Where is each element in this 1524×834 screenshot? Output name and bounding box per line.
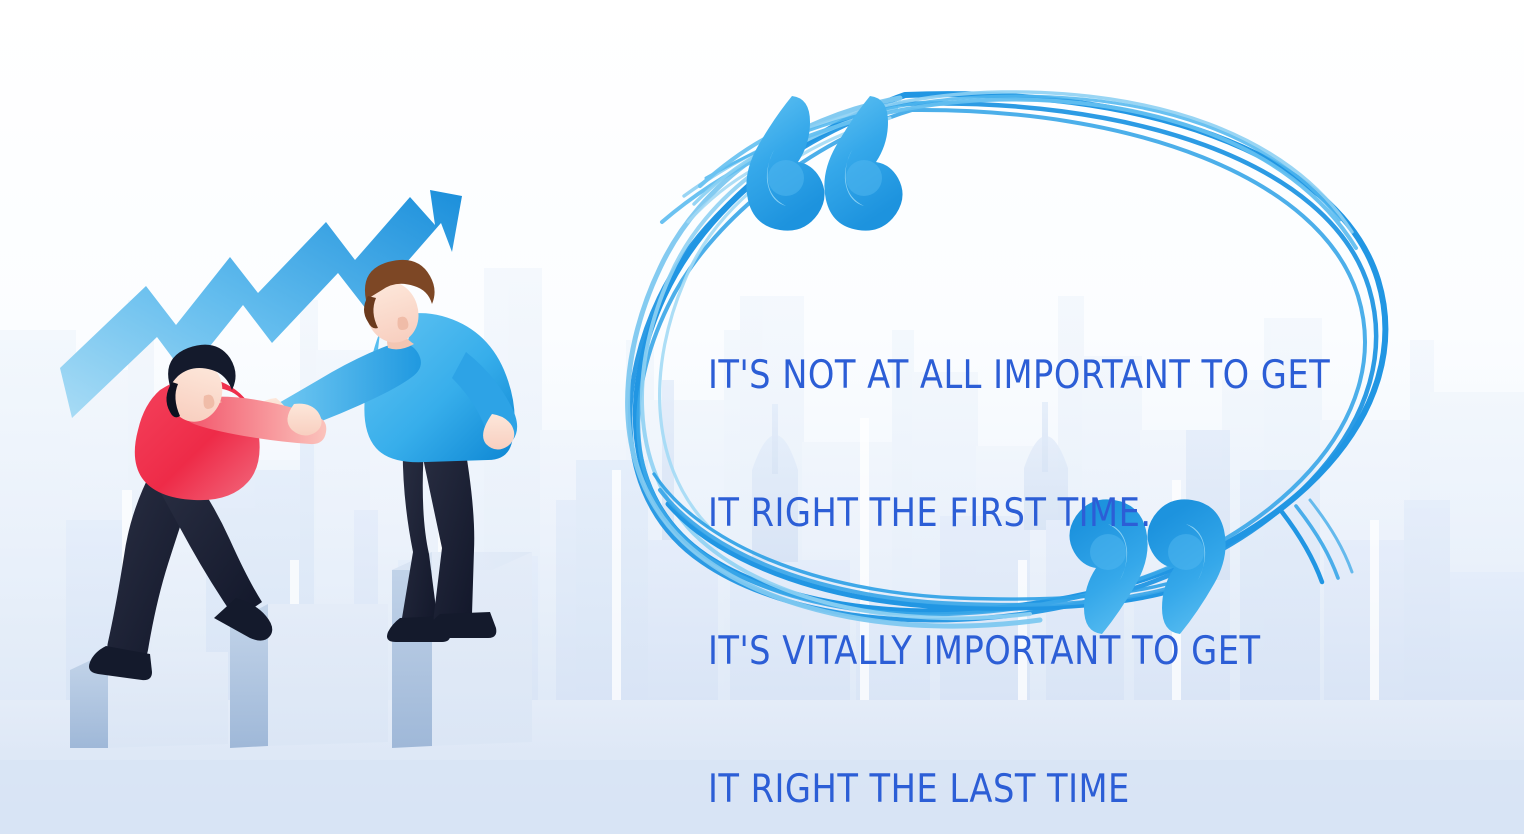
illustration-canvas: IT'S NOT AT ALL IMPORTANT TO GET IT RIGH… [0,0,1524,834]
ground-lower [0,760,1524,834]
scene-svg [0,0,1524,834]
